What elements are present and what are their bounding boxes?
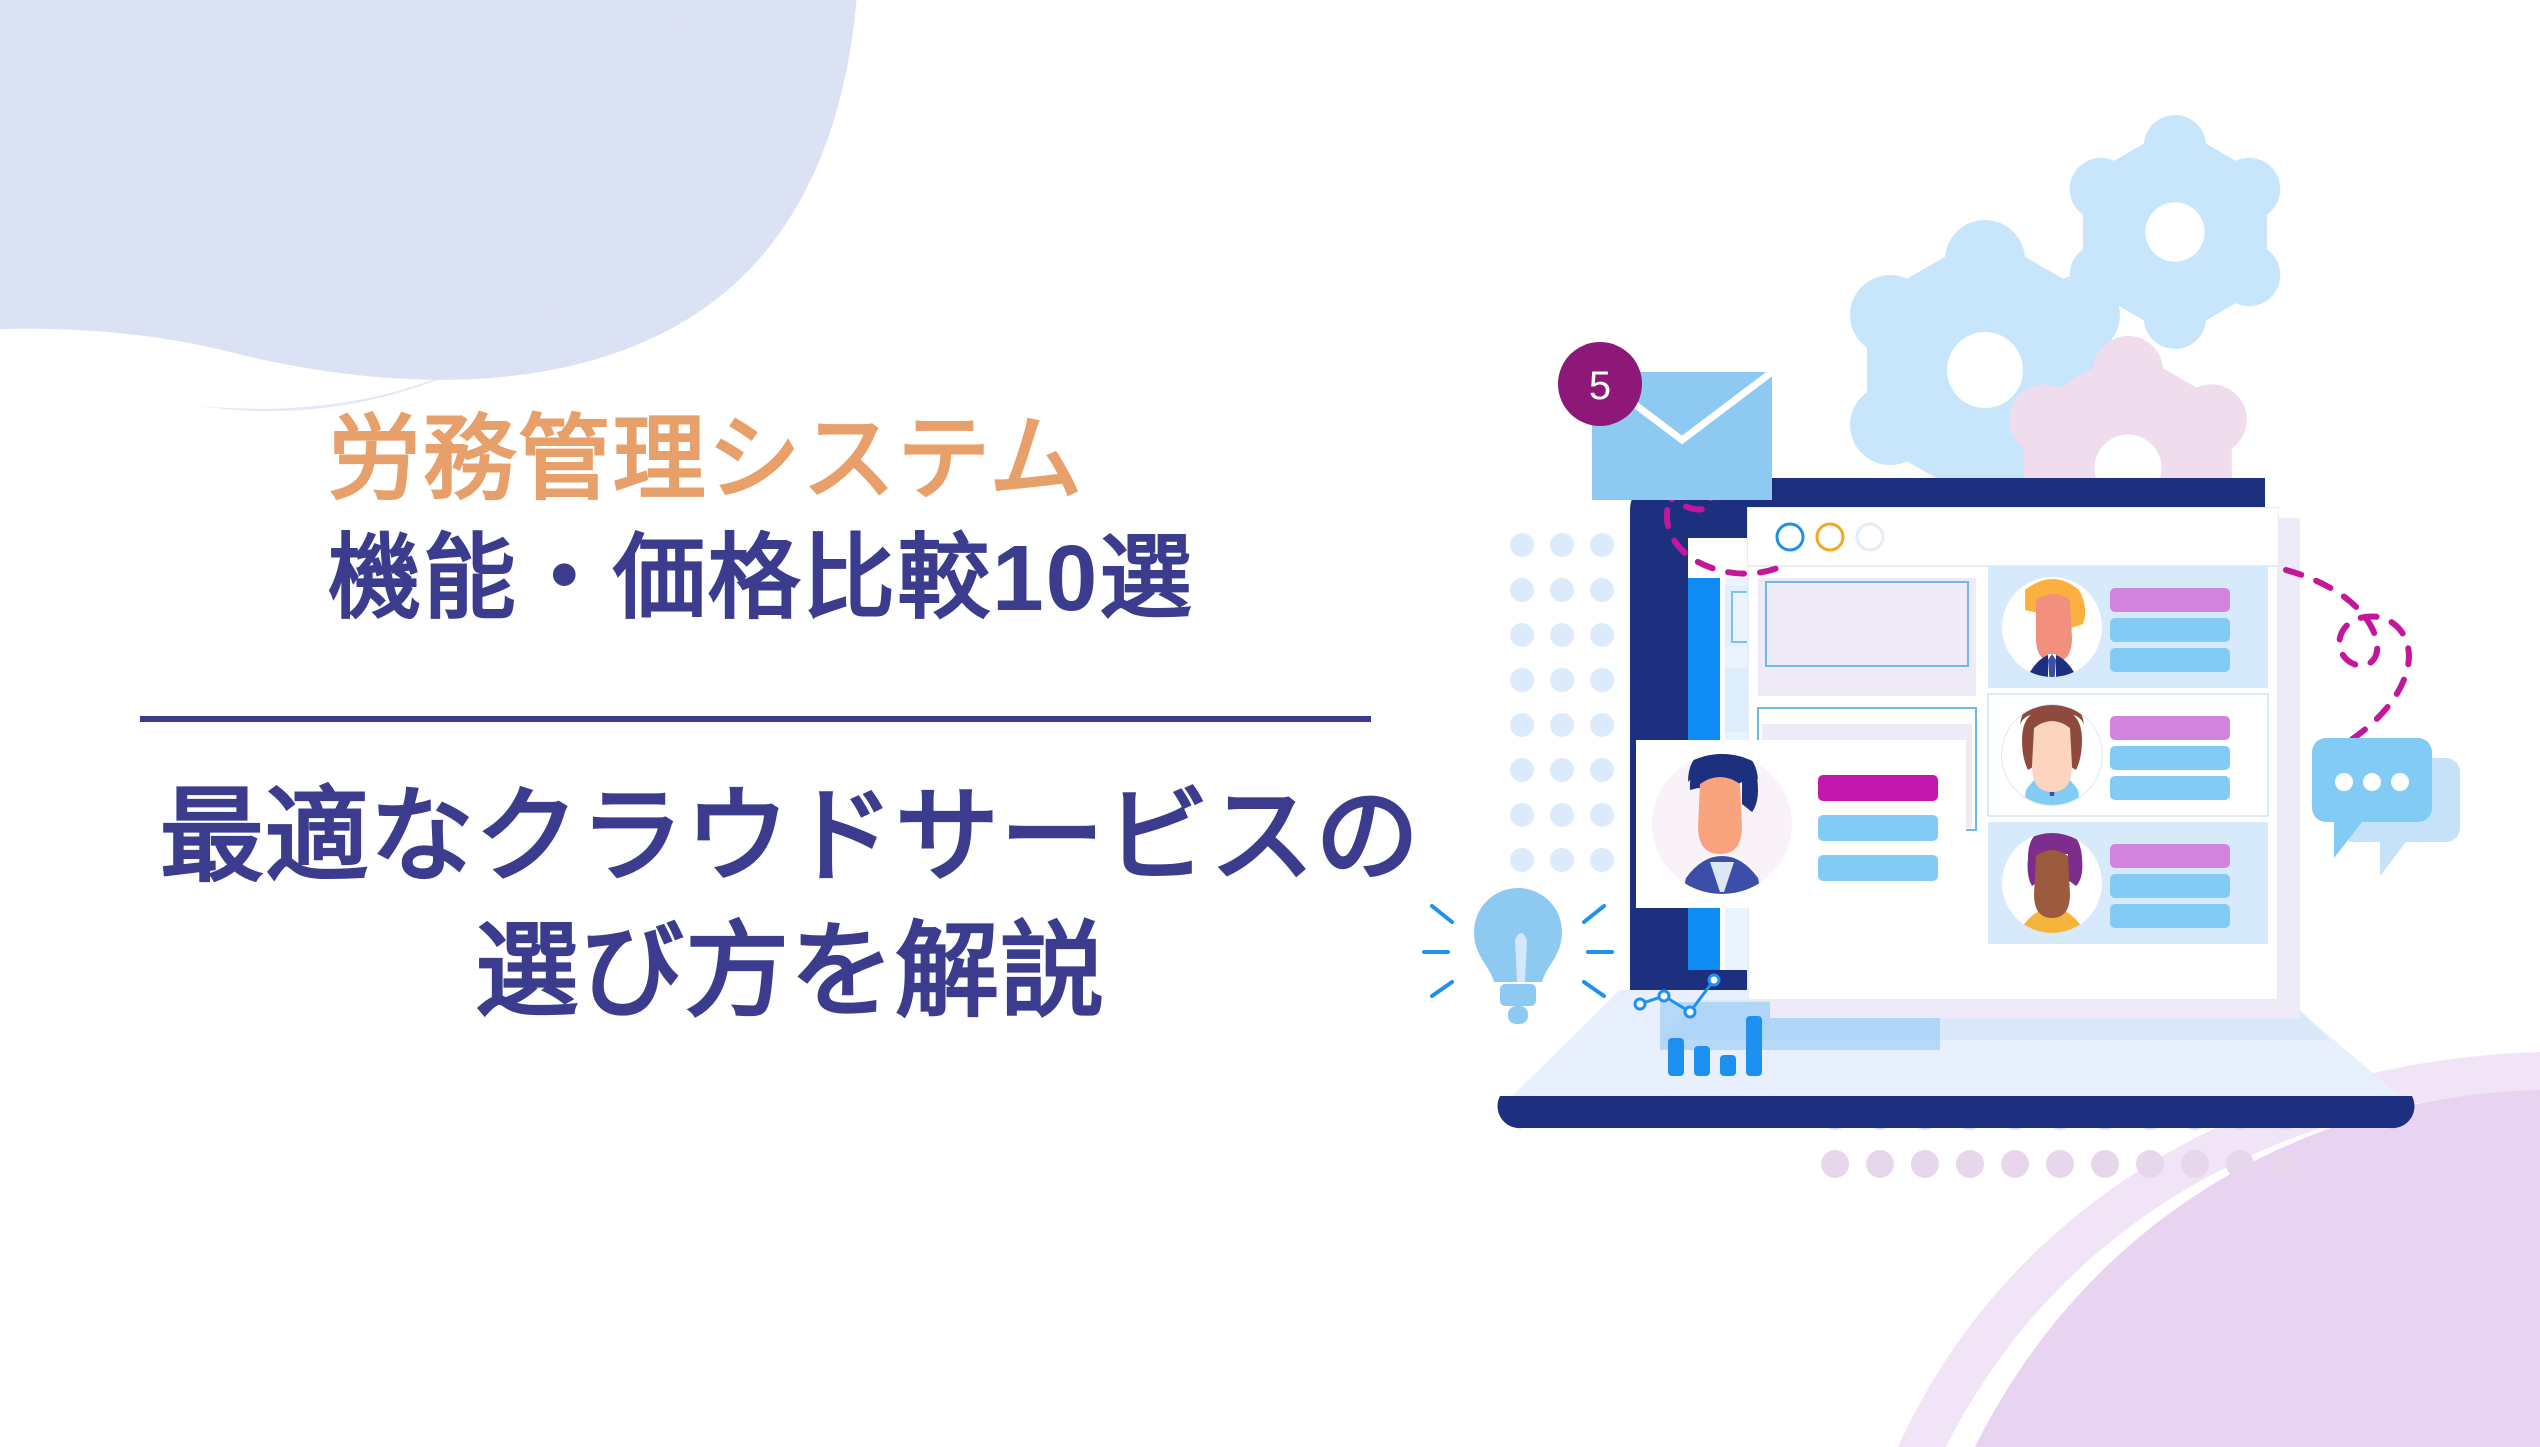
headline-line-1: 労務管理システム [140, 400, 1440, 519]
chat-bubble-icon [2312, 738, 2460, 876]
person-card-2 [1988, 694, 2268, 816]
blob-blue-topleft [0, 0, 859, 411]
background-decor-layer: 5 [0, 0, 2540, 1447]
banner-canvas: 5 労務管理システム 機能 [0, 0, 2540, 1447]
subheadline-line-1: 最適なクラウドサービスの [140, 770, 1440, 905]
person-card-1 [1988, 566, 2268, 694]
featured-person-card [1636, 740, 1966, 914]
subheadline-line-2: 選び方を解説 [140, 905, 1440, 1040]
envelope-icon: 5 [1558, 342, 1772, 500]
subheadline-block: 最適なクラウドサービスの 選び方を解説 [140, 770, 1440, 1040]
person-card-3 [1988, 822, 2268, 954]
headline-line-2: 機能・価格比較10選 [140, 519, 1440, 638]
headline-divider [140, 716, 1371, 722]
headline-block: 労務管理システム 機能・価格比較10選 [140, 400, 1440, 638]
lightbulb-icon [1424, 888, 1612, 1024]
envelope-badge-count: 5 [1589, 364, 1611, 408]
